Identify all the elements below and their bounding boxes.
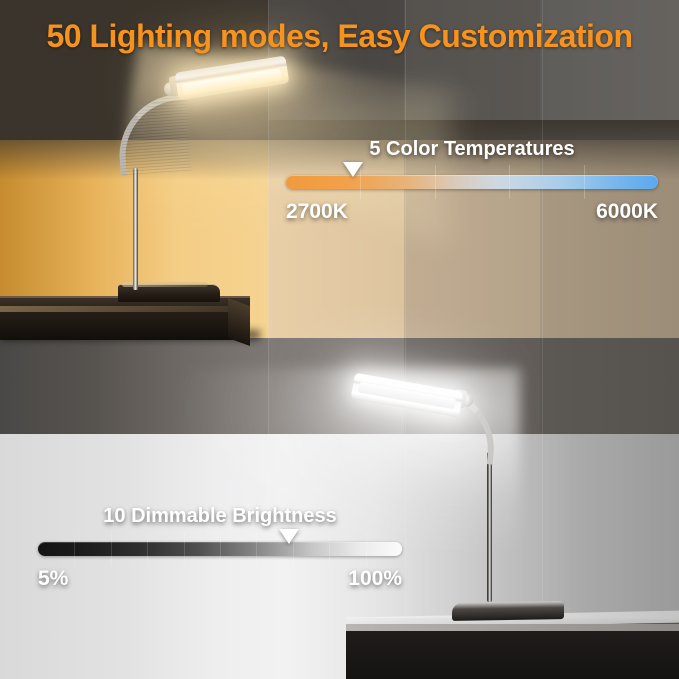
lamp-pole (487, 452, 492, 602)
color-temperature-range-labels: 2700K 6000K (286, 200, 658, 226)
color-temperature-caption: 5 Color Temperatures (286, 138, 658, 161)
brightness-min-label: 5% (38, 567, 68, 591)
brightness-slider[interactable]: 10 Dimmable Brightness 5% 100% (38, 505, 402, 593)
lamp-pole (133, 168, 138, 290)
product-feature-image: 50 Lighting modes, Easy Customization 5 … (0, 0, 679, 679)
brightness-pointer[interactable] (279, 529, 299, 544)
color-temperature-pointer[interactable] (343, 162, 363, 177)
page-title: 50 Lighting modes, Easy Customization (0, 18, 679, 55)
brightness-track[interactable] (38, 542, 402, 556)
color-temperature-track-wrap[interactable] (286, 175, 658, 191)
lamp-gooseneck-texture (116, 95, 191, 176)
brightness-range-labels: 5% 100% (38, 567, 402, 593)
brightness-caption: 10 Dimmable Brightness (38, 505, 402, 528)
brightness-max-label: 100% (348, 567, 402, 591)
cool-gooseneck-clamp-lamp (340, 360, 679, 640)
color-temperature-max-label: 6000K (596, 200, 658, 224)
color-temperature-track[interactable] (286, 175, 658, 189)
color-temperature-slider[interactable]: 5 Color Temperatures 2700K 6000K (286, 138, 658, 226)
color-temperature-min-label: 2700K (286, 200, 348, 224)
brightness-track-wrap[interactable] (38, 542, 402, 558)
